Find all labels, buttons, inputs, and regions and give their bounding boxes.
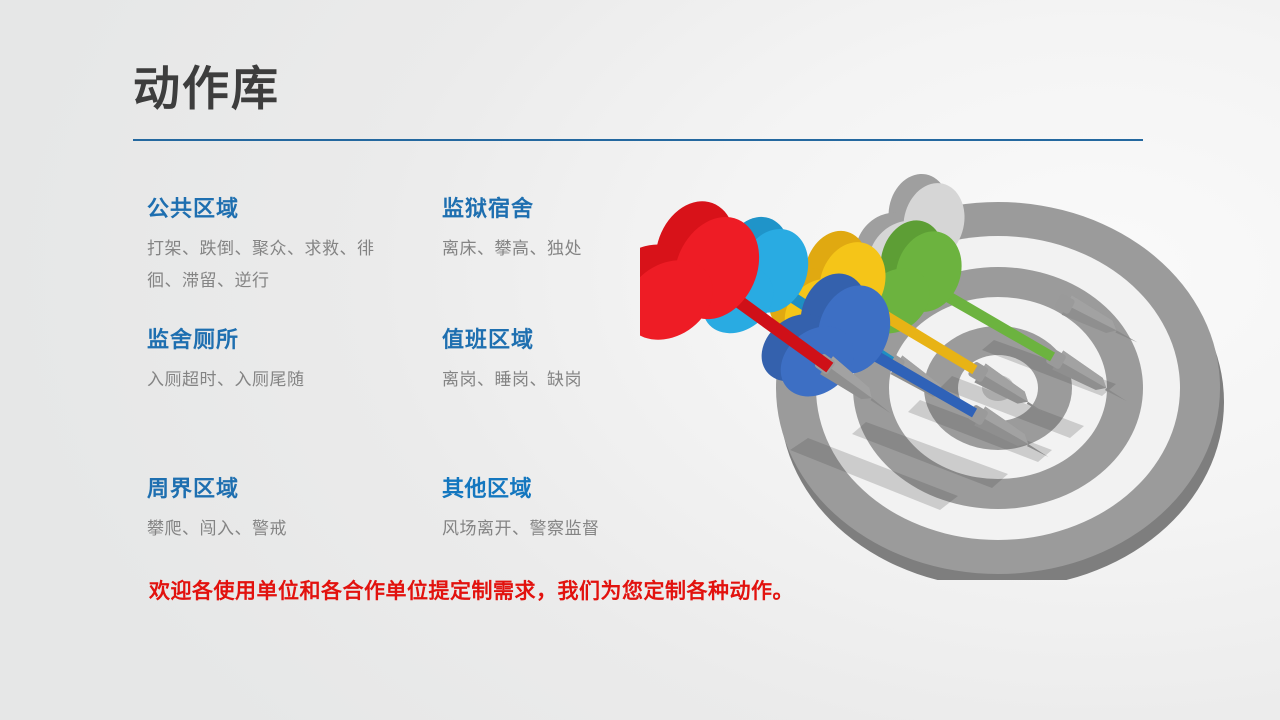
category-public-area: 公共区域 打架、跌倒、聚众、求救、徘徊、滞留、逆行 (147, 198, 442, 329)
category-title: 公共区域 (147, 198, 442, 220)
category-cell-toilet: 监舍厕所 入厕超时、入厕尾随 (147, 329, 442, 460)
title-block: 动作库 (133, 64, 1143, 141)
category-title: 监舍厕所 (147, 329, 442, 351)
category-items: 攀爬、闯入、警戒 (147, 513, 442, 545)
title-divider (133, 139, 1143, 141)
category-items: 打架、跌倒、聚众、求救、徘徊、滞留、逆行 (147, 233, 387, 297)
page-title: 动作库 (133, 64, 1143, 113)
category-items: 入厕超时、入厕尾随 (147, 364, 442, 396)
dartboard-illustration (640, 150, 1280, 580)
category-perimeter-area: 周界区域 攀爬、闯入、警戒 (147, 460, 442, 591)
slide-canvas: 动作库 公共区域 打架、跌倒、聚众、求救、徘徊、滞留、逆行 监狱宿舍 离床、攀高… (0, 0, 1280, 720)
category-title: 周界区域 (147, 478, 442, 500)
